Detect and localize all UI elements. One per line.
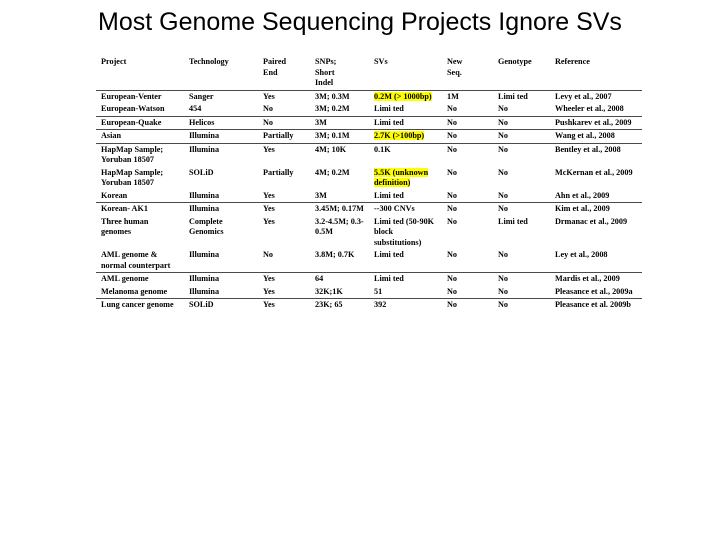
cell-reference: McKernan et al., 2009 bbox=[550, 167, 642, 190]
cell-svs: 0.1K bbox=[369, 143, 442, 167]
cell-paired-end: Yes bbox=[258, 143, 310, 167]
cell-new-seq: No bbox=[442, 203, 493, 216]
slide-canvas: Most Genome Sequencing Projects Ignore S… bbox=[0, 0, 720, 540]
cell-genotype: No bbox=[493, 167, 550, 190]
table-row: AML genome & normal counterpartIlluminaN… bbox=[96, 249, 642, 273]
cell-genotype: No bbox=[493, 273, 550, 286]
cell-reference: Drmanac et al., 2009 bbox=[550, 216, 642, 250]
cell-svs: Limi ted bbox=[369, 273, 442, 286]
cell-snps: 3M; 0.2M bbox=[310, 103, 369, 116]
cell-new-seq: No bbox=[442, 143, 493, 167]
cell-new-seq: No bbox=[442, 273, 493, 286]
table-row: AML genomeIlluminaYes64Limi tedNoNoMardi… bbox=[96, 273, 642, 286]
cell-svs: Limi ted bbox=[369, 103, 442, 116]
cell-snps: 32K;1K bbox=[310, 286, 369, 299]
cell-new-seq: No bbox=[442, 216, 493, 250]
cell-snps: 3.2-4.5M; 0.3-0.5M bbox=[310, 216, 369, 250]
cell-technology: Illumina bbox=[184, 130, 258, 144]
cell-paired-end: Yes bbox=[258, 203, 310, 216]
svs-highlight: 5.5K (unknown definition) bbox=[374, 168, 428, 188]
cell-genotype: No bbox=[493, 249, 550, 273]
cell-technology: Illumina bbox=[184, 249, 258, 273]
cell-svs: 51 bbox=[369, 286, 442, 299]
cell-project: European-Quake bbox=[96, 116, 184, 130]
cell-technology: Illumina bbox=[184, 143, 258, 167]
cell-technology: Illumina bbox=[184, 190, 258, 203]
cell-paired-end: Yes bbox=[258, 90, 310, 103]
cell-snps: 3M; 0.3M bbox=[310, 90, 369, 103]
cell-genotype: No bbox=[493, 203, 550, 216]
table-row: AsianIlluminaPartially3M; 0.1M2.7K (>100… bbox=[96, 130, 642, 144]
cell-technology: 454 bbox=[184, 103, 258, 116]
svs-highlight: 0.2M (> 1000bp) bbox=[374, 92, 432, 101]
cell-snps: 3.8M; 0.7K bbox=[310, 249, 369, 273]
cell-technology: SOLiD bbox=[184, 167, 258, 190]
cell-genotype: No bbox=[493, 190, 550, 203]
cell-paired-end: No bbox=[258, 249, 310, 273]
cell-reference: Bentley et al., 2008 bbox=[550, 143, 642, 167]
cell-new-seq: No bbox=[442, 249, 493, 273]
cell-paired-end: Partially bbox=[258, 167, 310, 190]
cell-svs: 392 bbox=[369, 299, 442, 312]
cell-technology: Sanger bbox=[184, 90, 258, 103]
cell-snps: 23K; 65 bbox=[310, 299, 369, 312]
cell-new-seq: No bbox=[442, 103, 493, 116]
cell-project: Korean- AK1 bbox=[96, 203, 184, 216]
header-cell-snps: SNPs;ShortIndel bbox=[310, 56, 369, 90]
cell-technology: SOLiD bbox=[184, 299, 258, 312]
cell-snps: 64 bbox=[310, 273, 369, 286]
page-title: Most Genome Sequencing Projects Ignore S… bbox=[0, 8, 720, 37]
cell-svs: Limi ted (50-90K block substitutions) bbox=[369, 216, 442, 250]
cell-genotype: No bbox=[493, 130, 550, 144]
cell-snps: 3M bbox=[310, 116, 369, 130]
cell-genotype: Limi ted bbox=[493, 90, 550, 103]
header-cell-genotype: Genotype bbox=[493, 56, 550, 90]
header-cell-project: Project bbox=[96, 56, 184, 90]
cell-project: Three human genomes bbox=[96, 216, 184, 250]
table-row: Lung cancer genomeSOLiDYes23K; 65392NoNo… bbox=[96, 299, 642, 312]
table-row: Three human genomesComplete GenomicsYes3… bbox=[96, 216, 642, 250]
cell-reference: Kim et al., 2009 bbox=[550, 203, 642, 216]
cell-project: Melanoma genome bbox=[96, 286, 184, 299]
cell-new-seq: No bbox=[442, 286, 493, 299]
cell-paired-end: Partially bbox=[258, 130, 310, 144]
cell-snps: 4M; 10K bbox=[310, 143, 369, 167]
cell-paired-end: No bbox=[258, 116, 310, 130]
table-row: Korean- AK1IlluminaYes3.45M; 0.17M--300 … bbox=[96, 203, 642, 216]
table-header-row: ProjectTechnologyPairedEndSNPs;ShortInde… bbox=[96, 56, 642, 90]
cell-paired-end: No bbox=[258, 103, 310, 116]
table-row: European-Watson454No3M; 0.2MLimi tedNoNo… bbox=[96, 103, 642, 116]
cell-genotype: No bbox=[493, 143, 550, 167]
cell-reference: Pleasance et al. 2009b bbox=[550, 299, 642, 312]
cell-snps: 3.45M; 0.17M bbox=[310, 203, 369, 216]
cell-project: Korean bbox=[96, 190, 184, 203]
cell-project: AML genome & normal counterpart bbox=[96, 249, 184, 273]
cell-svs: Limi ted bbox=[369, 116, 442, 130]
svs-highlight: 2.7K (>100bp) bbox=[374, 131, 424, 140]
cell-svs: 0.2M (> 1000bp) bbox=[369, 90, 442, 103]
table-row: KoreanIlluminaYes3MLimi tedNoNoAhn et al… bbox=[96, 190, 642, 203]
cell-paired-end: Yes bbox=[258, 190, 310, 203]
cell-new-seq: No bbox=[442, 116, 493, 130]
cell-new-seq: No bbox=[442, 299, 493, 312]
genome-sequencing-projects-table: ProjectTechnologyPairedEndSNPs;ShortInde… bbox=[96, 56, 642, 312]
cell-reference: Levy et al., 2007 bbox=[550, 90, 642, 103]
cell-technology: Complete Genomics bbox=[184, 216, 258, 250]
table-row: HapMap Sample; Yoruban 18507SOLiDPartial… bbox=[96, 167, 642, 190]
header-cell-svs: SVs bbox=[369, 56, 442, 90]
cell-genotype: No bbox=[493, 103, 550, 116]
cell-snps: 3M bbox=[310, 190, 369, 203]
cell-new-seq: No bbox=[442, 190, 493, 203]
cell-reference: Mardis et al., 2009 bbox=[550, 273, 642, 286]
cell-new-seq: No bbox=[442, 167, 493, 190]
table-row: European-VenterSangerYes3M; 0.3M0.2M (> … bbox=[96, 90, 642, 103]
cell-snps: 4M; 0.2M bbox=[310, 167, 369, 190]
cell-technology: Helicos bbox=[184, 116, 258, 130]
table-row: European-QuakeHelicosNo3MLimi tedNoNoPus… bbox=[96, 116, 642, 130]
table-row: Melanoma genomeIlluminaYes32K;1K51NoNoPl… bbox=[96, 286, 642, 299]
cell-project: Lung cancer genome bbox=[96, 299, 184, 312]
cell-paired-end: Yes bbox=[258, 286, 310, 299]
cell-reference: Wheeler et al., 2008 bbox=[550, 103, 642, 116]
cell-paired-end: Yes bbox=[258, 216, 310, 250]
cell-new-seq: No bbox=[442, 130, 493, 144]
cell-reference: Wang et al., 2008 bbox=[550, 130, 642, 144]
table-body: ProjectTechnologyPairedEndSNPs;ShortInde… bbox=[96, 56, 642, 312]
cell-svs: Limi ted bbox=[369, 190, 442, 203]
cell-snps: 3M; 0.1M bbox=[310, 130, 369, 144]
cell-project: AML genome bbox=[96, 273, 184, 286]
cell-genotype: Limi ted bbox=[493, 216, 550, 250]
cell-paired-end: Yes bbox=[258, 299, 310, 312]
cell-svs: --300 CNVs bbox=[369, 203, 442, 216]
cell-technology: Illumina bbox=[184, 273, 258, 286]
cell-genotype: No bbox=[493, 299, 550, 312]
cell-project: Asian bbox=[96, 130, 184, 144]
cell-project: European-Venter bbox=[96, 90, 184, 103]
cell-technology: Illumina bbox=[184, 286, 258, 299]
cell-genotype: No bbox=[493, 286, 550, 299]
header-cell-technology: Technology bbox=[184, 56, 258, 90]
cell-project: European-Watson bbox=[96, 103, 184, 116]
cell-project: HapMap Sample; Yoruban 18507 bbox=[96, 143, 184, 167]
cell-reference: Ley et al., 2008 bbox=[550, 249, 642, 273]
table-row: HapMap Sample; Yoruban 18507IlluminaYes4… bbox=[96, 143, 642, 167]
cell-svs: 2.7K (>100bp) bbox=[369, 130, 442, 144]
cell-reference: Pleasance et al., 2009a bbox=[550, 286, 642, 299]
cell-svs: 5.5K (unknown definition) bbox=[369, 167, 442, 190]
header-cell-paired-end: PairedEnd bbox=[258, 56, 310, 90]
cell-svs: Limi ted bbox=[369, 249, 442, 273]
header-cell-new-seq: NewSeq. bbox=[442, 56, 493, 90]
cell-project: HapMap Sample; Yoruban 18507 bbox=[96, 167, 184, 190]
cell-technology: Illumina bbox=[184, 203, 258, 216]
header-cell-reference: Reference bbox=[550, 56, 642, 90]
cell-genotype: No bbox=[493, 116, 550, 130]
cell-reference: Pushkarev et al., 2009 bbox=[550, 116, 642, 130]
cell-reference: Ahn et al., 2009 bbox=[550, 190, 642, 203]
table-container: ProjectTechnologyPairedEndSNPs;ShortInde… bbox=[96, 56, 642, 540]
cell-new-seq: 1M bbox=[442, 90, 493, 103]
cell-paired-end: Yes bbox=[258, 273, 310, 286]
